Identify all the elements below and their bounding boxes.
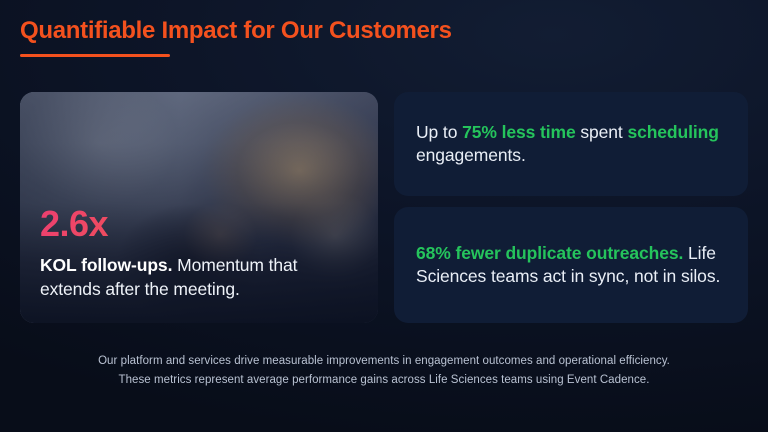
highlight-2: scheduling — [627, 122, 718, 142]
text-part-2: spent — [576, 122, 628, 142]
hero-stat-card[interactable]: 2.6x KOL follow-ups. Momentum that exten… — [20, 92, 378, 323]
footer-line-1: Our platform and services drive measurab… — [28, 352, 740, 371]
page-title: Quantifiable Impact for Our Customers — [20, 18, 640, 44]
cards-grid: 2.6x KOL follow-ups. Momentum that exten… — [20, 92, 748, 323]
header: Quantifiable Impact for Our Customers — [20, 18, 640, 57]
footer-note: Our platform and services drive measurab… — [0, 352, 768, 389]
slide: Quantifiable Impact for Our Customers 2.… — [0, 0, 768, 432]
stat-card-scheduling[interactable]: Up to 75% less time spent scheduling eng… — [394, 92, 748, 196]
highlight-1: 68% fewer duplicate outreaches. — [416, 243, 683, 263]
hero-stat-description: KOL follow-ups. Momentum that extends af… — [40, 254, 360, 301]
text-part-3: engagements. — [416, 145, 526, 165]
footer-line-2: These metrics represent average performa… — [28, 371, 740, 390]
highlight-1: 75% less time — [462, 122, 576, 142]
hero-stat-lead: KOL follow-ups. — [40, 255, 172, 275]
stat-cards-column: Up to 75% less time spent scheduling eng… — [394, 92, 748, 323]
stat-card-duplicate-outreaches[interactable]: 68% fewer duplicate outreaches. Life Sci… — [394, 207, 748, 323]
text-part-1: Up to — [416, 122, 462, 142]
hero-stat-value: 2.6x — [40, 205, 360, 243]
stat-card-text: Up to 75% less time spent scheduling eng… — [416, 121, 726, 168]
title-underline-accent — [20, 54, 170, 57]
hero-card-body: 2.6x KOL follow-ups. Momentum that exten… — [40, 205, 360, 301]
stat-card-text: 68% fewer duplicate outreaches. Life Sci… — [416, 242, 726, 289]
